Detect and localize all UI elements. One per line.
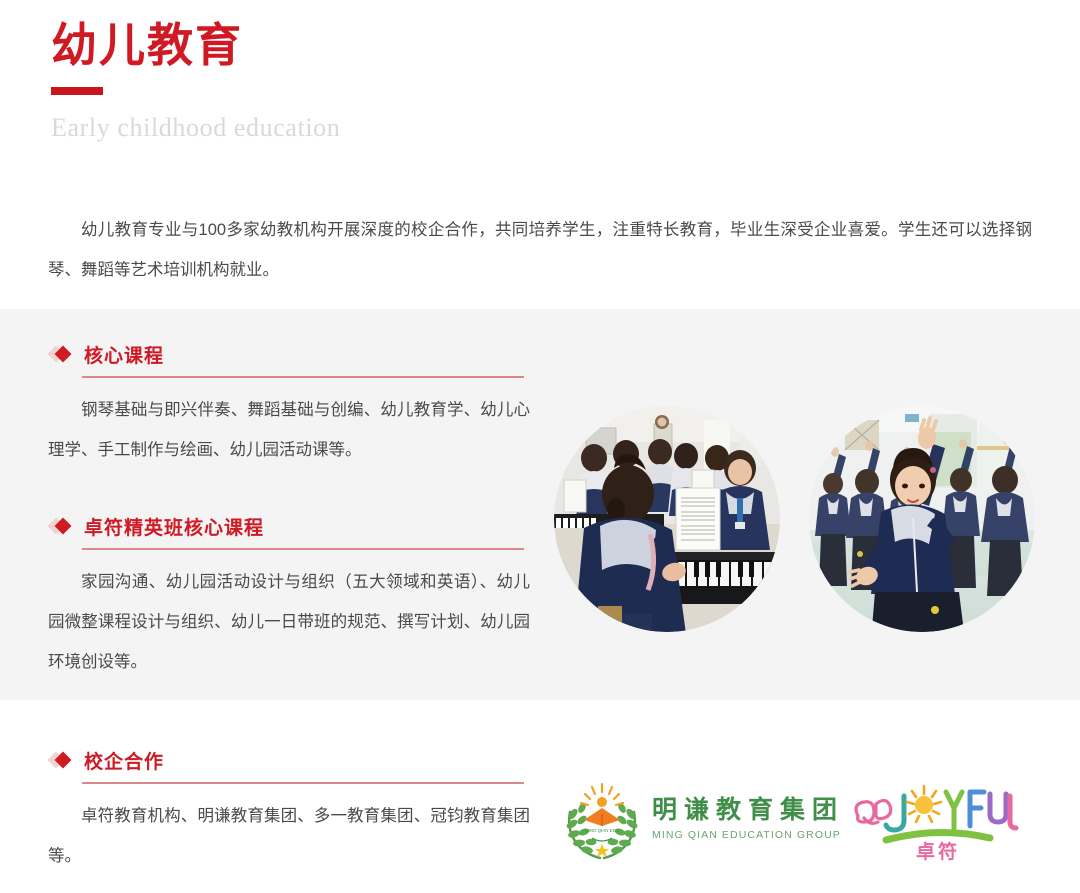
- section-heading: 核心课程: [48, 341, 528, 367]
- page-subtitle: Early childhood education: [51, 113, 340, 143]
- section-body: 钢琴基础与即兴伴奏、舞蹈基础与创编、幼儿教育学、幼儿心理学、手工制作与绘画、幼儿…: [48, 390, 530, 470]
- partner-logos: MING QIAN EDU 明谦教育集团 MING QIAN EDUCATION…: [560, 776, 1030, 868]
- title-underline-bar: [51, 87, 103, 95]
- section-elite-core-courses: 卓符精英班核心课程 家园沟通、幼儿园活动设计与组织（五大领域和英语）、幼儿园微整…: [48, 513, 528, 699]
- section-divider: [82, 548, 524, 550]
- section-body: 家园沟通、幼儿园活动设计与组织（五大领域和英语）、幼儿园微整课程设计与组织、幼儿…: [48, 562, 530, 682]
- section-heading: 校企合作: [48, 747, 528, 773]
- photo-dance-class: [809, 406, 1035, 632]
- section-core-courses: 核心课程 钢琴基础与即兴伴奏、舞蹈基础与创编、幼儿教育学、幼儿心理学、手工制作与…: [48, 341, 528, 487]
- diamond-bullet-icon: [48, 517, 78, 535]
- intro-paragraph: 幼儿教育专业与100多家幼教机构开展深度的校企合作，共同培养学生，注重特长教育，…: [48, 210, 1032, 290]
- page-title: 幼儿教育: [51, 18, 340, 73]
- section-title: 核心课程: [84, 341, 164, 368]
- section-divider: [82, 782, 524, 784]
- mingqian-name-cn: 明谦教育集团: [652, 796, 844, 824]
- svg-text:MING QIAN EDU: MING QIAN EDU: [585, 828, 619, 833]
- logo-joyful-zhuofu: 卓符: [850, 776, 1020, 862]
- section-title: 卓符精英班核心课程: [84, 513, 264, 540]
- section-body: 卓符教育机构、明谦教育集团、多一教育集团、冠钧教育集团等。: [48, 796, 530, 876]
- section-heading: 卓符精英班核心课程: [48, 513, 528, 539]
- section-school-enterprise-cooperation: 校企合作 卓符教育机构、明谦教育集团、多一教育集团、冠钧教育集团等。: [48, 747, 528, 893]
- photo-piano-class: [554, 406, 780, 632]
- joyful-name-cn: 卓符: [916, 840, 960, 862]
- laurel-wreath-icon: MING QIAN EDU: [560, 778, 644, 862]
- page-header: 幼儿教育 Early childhood education: [51, 18, 340, 143]
- mingqian-name-en: MING QIAN EDUCATION GROUP: [652, 829, 841, 841]
- section-title: 校企合作: [84, 747, 164, 774]
- diamond-bullet-icon: [48, 345, 78, 363]
- section-divider: [82, 376, 524, 378]
- diamond-bullet-icon: [48, 751, 78, 769]
